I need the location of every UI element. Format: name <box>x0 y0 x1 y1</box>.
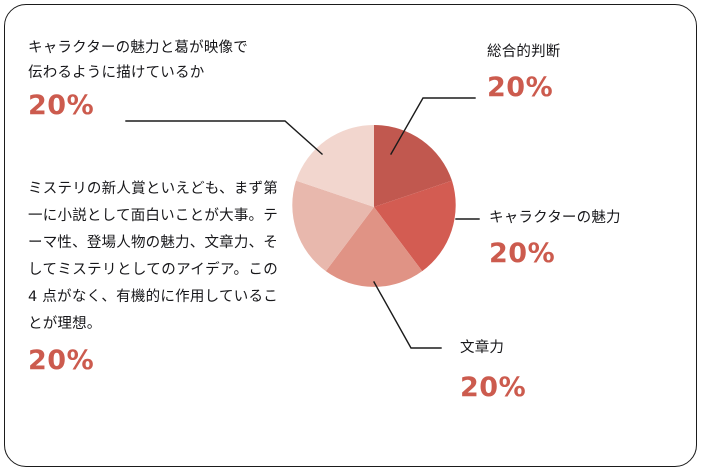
callout-character-appeal-video-percent: 20% <box>28 89 248 123</box>
callout-overall-judgement-percent: 20% <box>487 71 561 105</box>
callout-novel-interest: ミステリの新人賞といえども、まず第一に小説として面白いことが大事。テーマ性、登場… <box>28 176 278 378</box>
callout-writing-ability: 文章力 20% <box>460 336 526 405</box>
callout-writing-ability-label: 文章力 <box>460 336 526 361</box>
callout-overall-judgement-label: 総合的判断 <box>487 40 561 65</box>
pie-chart <box>292 125 456 289</box>
callout-overall-judgement: 総合的判断 20% <box>487 40 561 105</box>
callout-character-appeal: キャラクターの魅力 20% <box>489 206 621 271</box>
leader-line-writing-ability <box>374 282 441 348</box>
callout-novel-interest-percent: 20% <box>28 344 278 378</box>
callout-novel-interest-body: ミステリの新人賞といえども、まず第一に小説として面白いことが大事。テーマ性、登場… <box>28 176 278 338</box>
callout-character-appeal-video: キャラクターの魅力と葛が映像で 伝わるように描けているか 20% <box>28 36 248 123</box>
infographic-root: キャラクターの魅力と葛が映像で 伝わるように描けているか 20% ミステリの新人… <box>0 0 701 471</box>
pie-chart-svg <box>292 125 456 289</box>
callout-character-appeal-label: キャラクターの魅力 <box>489 206 621 231</box>
callout-character-appeal-video-line2: 伝わるように描けているか <box>28 61 248 86</box>
callout-character-appeal-percent: 20% <box>489 237 621 271</box>
callout-character-appeal-video-line1: キャラクターの魅力と葛が映像で <box>28 36 248 61</box>
callout-writing-ability-percent: 20% <box>460 371 526 405</box>
